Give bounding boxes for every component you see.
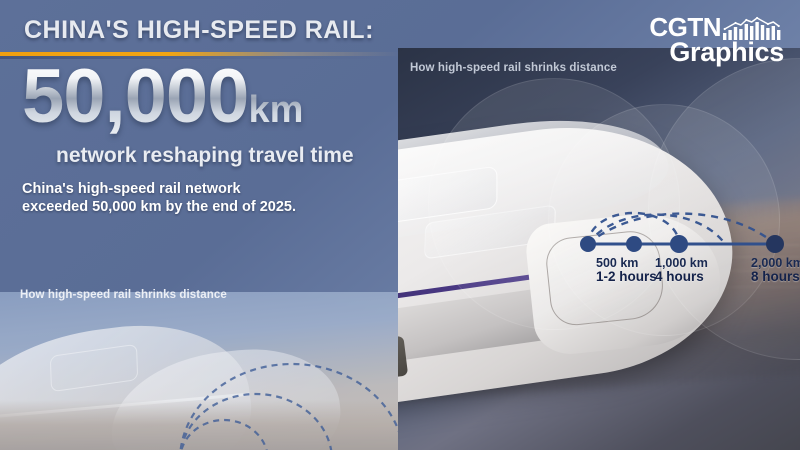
big-statistic-value: 50,000: [22, 54, 248, 139]
page-title: CHINA'S HIGH-SPEED RAIL:: [24, 16, 404, 45]
logo-subtitle: Graphics: [649, 38, 784, 67]
timeline-time-1000km: 4 hours: [655, 270, 708, 284]
right-panel: How high-speed rail shrinks distance 500…: [398, 48, 800, 450]
blurb-line-1: China's high-speed rail network: [22, 180, 382, 198]
timeline-time-500km: 1-2 hours: [596, 270, 657, 284]
timeline-dot-2000km: [766, 235, 784, 253]
big-statistic: 50,000km: [22, 58, 402, 136]
ghost-timeline-arcs: [0, 292, 410, 450]
subheadline: network reshaping travel time: [56, 144, 416, 168]
timeline-distance-2000km: 2,000 km: [751, 256, 800, 270]
timeline-distance-500km: 500 km: [596, 256, 638, 270]
timeline-distance-1000km: 1,000 km: [655, 256, 708, 270]
timeline-graphic: [398, 48, 800, 450]
blurb-text: China's high-speed rail network exceeded…: [22, 180, 382, 216]
arc-1000km: [588, 215, 725, 244]
timeline-dot-1000km: [670, 235, 688, 253]
timeline-label-500km: 500 km 1-2 hours: [596, 256, 657, 284]
ghost-train-artwork: [0, 292, 410, 450]
timeline-label-1000km: 1,000 km 4 hours: [655, 256, 708, 284]
big-statistic-unit: km: [248, 89, 303, 131]
timeline-label-2000km: 2,000 km 8 hours: [751, 256, 800, 284]
distance-time-timeline: 500 km 1-2 hours 1,000 km 4 hours 2,000 …: [398, 48, 800, 450]
blurb-line-2: exceeded 50,000 km by the end of 2025.: [22, 198, 382, 216]
timeline-dot-500km: [626, 236, 642, 252]
infographic-canvas: How high-speed rail shrinks distance CHI…: [0, 0, 800, 450]
timeline-time-2000km: 8 hours: [751, 270, 800, 284]
left-panel-caption: How high-speed rail shrinks distance: [20, 289, 227, 301]
cgtn-graphics-logo: CGTN: [649, 14, 784, 67]
timeline-dot-origin: [580, 236, 596, 252]
